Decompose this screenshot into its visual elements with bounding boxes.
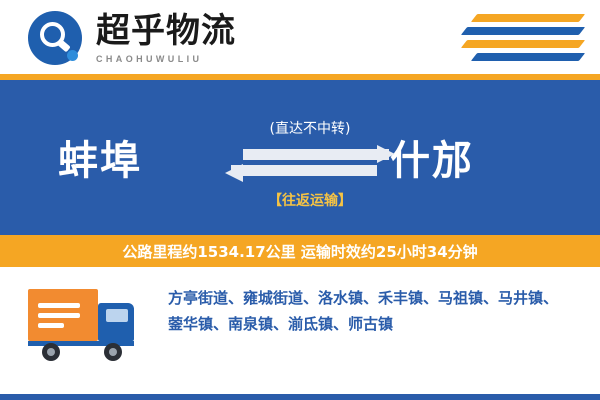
arrow-head-right [377,145,395,163]
origin-city: 蚌埠 [58,128,142,186]
truck-wheel-front [104,343,122,361]
distance-duration-bar: 公路里程约1534.17公里 运输时效约25小时34分钟 [0,235,600,267]
truck-line-3 [38,323,64,328]
truck-wheel-hub-front [109,348,117,356]
brand-name-en: CHAOHUWULIU [96,54,296,64]
truck-line-2 [38,313,80,318]
service-area-list: 方亭街道、雍城街道、洛水镇、禾丰镇、马祖镇、马井镇、蓥华镇、南泉镇、湔氐镇、师古… [168,285,572,337]
stripe-1 [471,14,585,22]
truck-line-1 [38,303,80,308]
logistics-route-poster: 超乎物流 CHAOHUWULIU 蚌埠 什邡 (直达不中转) 【往返运输】 公路… [0,0,600,400]
arrow-bar-top [243,149,389,160]
route-note-direct: (直达不中转) [240,118,380,138]
stripe-3 [461,40,585,48]
arrow-head-left [225,164,243,182]
truck-wheel-hub-rear [47,348,55,356]
header: 超乎物流 CHAOHUWULIU [0,0,600,74]
distance-duration-text: 公路里程约1534.17公里 运输时效约25小时34分钟 [122,241,477,262]
bottom-accent-bar [0,394,600,400]
circle-arrow-logo-icon [28,11,82,65]
stripe-4 [471,53,585,61]
route-panel: 蚌埠 什邡 (直达不中转) 【往返运输】 [0,80,600,235]
destination-city: 什邡 [390,128,474,186]
logo-dot-shape [67,50,78,61]
two-way-arrows-icon [225,146,395,182]
truck-cargo-lines [38,303,80,327]
speed-stripes-icon [452,14,582,62]
delivery-truck-icon [28,283,148,363]
stripe-2 [461,27,585,35]
brand-block: 超乎物流 CHAOHUWULIU [96,12,296,64]
truck-wheel-rear [42,343,60,361]
arrow-bar-bottom [231,165,377,176]
truck-window [106,309,128,322]
brand-name-cn: 超乎物流 [96,12,296,50]
route-note-roundtrip: 【往返运输】 [230,190,390,210]
service-area-section: 方亭街道、雍城街道、洛水镇、禾丰镇、马祖镇、马井镇、蓥华镇、南泉镇、湔氐镇、师古… [0,267,600,400]
